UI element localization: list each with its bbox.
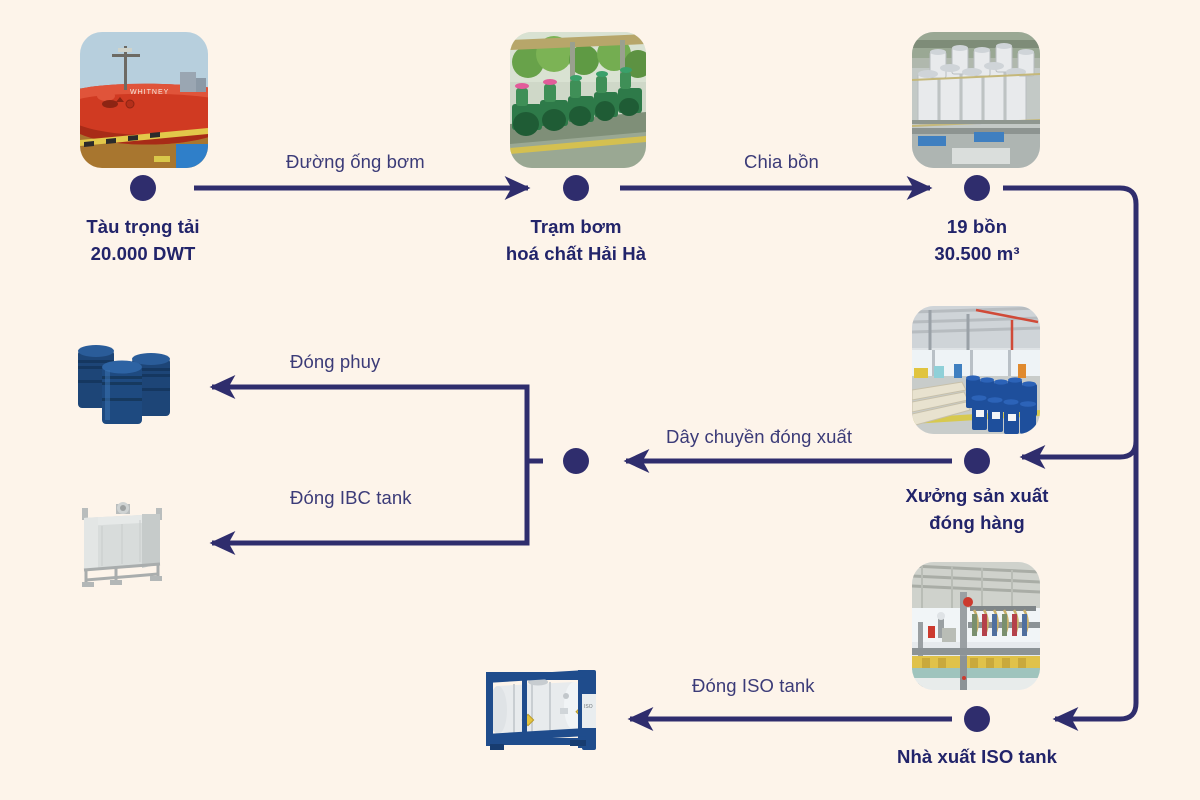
svg-text:WHITNEY: WHITNEY [130,89,169,96]
thumbnail-tanker-ship: WHITNEY [80,32,208,168]
edge-label-tank-split: Chia bồn [744,150,819,174]
node-dot-factory[interactable] [964,448,990,474]
node-dot-ship[interactable] [130,175,156,201]
edge-label-pipeline: Đường ống bơm [286,150,425,174]
edge-line-e4 [212,387,527,403]
node-label-isohouse: Nhà xuất ISO tank [867,744,1087,771]
edge-label-ibc-filling: Đóng IBC tank [290,486,412,510]
node-label-tanks: 19 bồn 30.500 m³ [877,214,1077,268]
thumbnail-iso-loading-bay [912,562,1040,690]
node-label-factory: Xưởng sản xuất đóng hàng [877,483,1077,537]
edge-label-packing-line: Dây chuyền đóng xuất [666,425,852,449]
edge-line-e5 [212,527,527,543]
thumbnail-iso-tank-container: ISO [478,664,600,760]
node-label-pump: Trạm bơm hoá chất Hải Hà [456,214,696,268]
node-dot-split[interactable] [563,448,589,474]
edge-line-split-stem [527,403,543,461]
thumbnail-pump-station [510,32,646,168]
edge-line-bus-branch-factory [1022,441,1136,457]
edge-label-drum-filling: Đóng phuy [290,350,380,374]
node-dot-tanks[interactable] [964,175,990,201]
node-dot-isohouse[interactable] [964,706,990,732]
thumbnail-ibc-tank [72,500,176,588]
node-label-ship: Tàu trọng tải 20.000 DWT [43,214,243,268]
edge-label-iso-filling: Đóng ISO tank [692,674,815,698]
thumbnail-tank-farm [912,32,1040,168]
thumbnail-packing-workshop [912,306,1040,434]
node-dot-pump[interactable] [563,175,589,201]
thumbnail-blue-drums [72,336,176,424]
svg-text:ISO: ISO [584,704,593,710]
flow-diagram: WHITNEY [0,0,1200,800]
